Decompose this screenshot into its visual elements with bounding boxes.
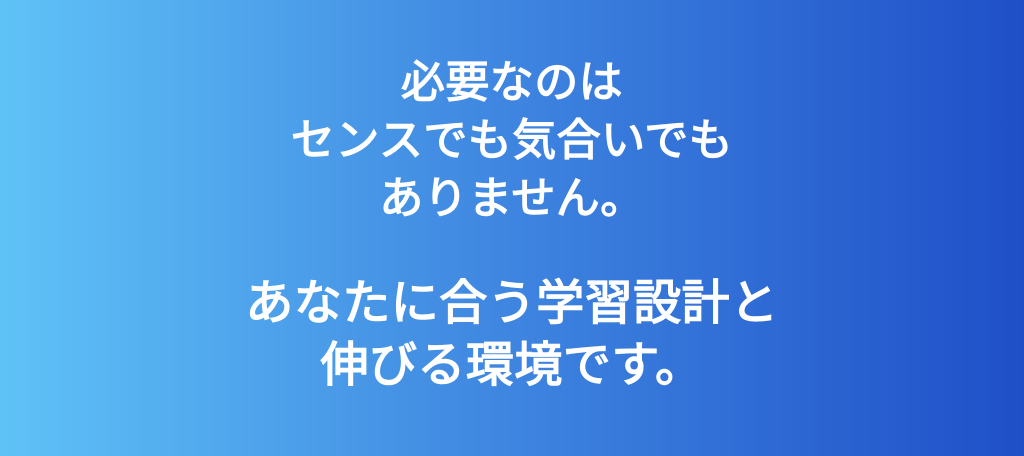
secondary-message-block: あなたに合う学習設計と 伸びる環境です。 xyxy=(0,272,1024,396)
secondary-message-line-2: 伸びる環境です。 xyxy=(0,334,1024,396)
primary-message-line-2: センスでも気合いでも xyxy=(0,112,1024,170)
primary-message-line-1: 必要なのは xyxy=(0,54,1024,112)
promo-banner: 必要なのは センスでも気合いでも ありません。 あなたに合う学習設計と 伸びる環… xyxy=(0,0,1024,456)
primary-message-line-3: ありません。 xyxy=(0,170,1024,228)
primary-message-block: 必要なのは センスでも気合いでも ありません。 xyxy=(0,54,1024,228)
paragraph-spacer xyxy=(0,228,1024,272)
secondary-message-line-1: あなたに合う学習設計と xyxy=(0,272,1024,334)
